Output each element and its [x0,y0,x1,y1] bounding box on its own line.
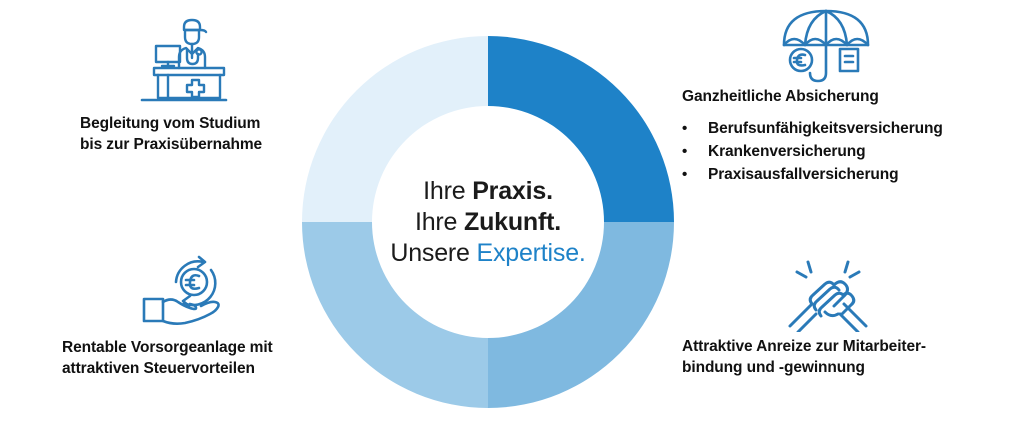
list-item: • Berufsunfähigkeitsversicherung [682,117,1012,140]
center-line1-light: Ihre [423,177,472,205]
callout-title-ganzheitliche-absicherung: Ganzheitliche Absicherung [682,86,1012,107]
center-line3-accent: Expertise. [476,239,585,267]
center-text-line-2: Ihre Zukunft. [415,207,561,238]
partnership-handshake-icon [780,246,876,332]
bullet-list-ganzheitliche-absicherung: • Berufsunfähigkeitsversicherung • Krank… [682,117,1012,186]
bullet-label: Krankenversicherung [708,140,865,163]
umbrella-euro-document-icon [776,4,876,90]
bullet-point-icon: • [682,163,708,186]
donut-chart: Ihre Praxis. Ihre Zukunft. Unsere Expert… [302,36,674,408]
bullet-point-icon: • [682,117,708,140]
donut-center-text: Ihre Praxis. Ihre Zukunft. Unsere Expert… [302,36,674,408]
infographic-canvas: Ihre Praxis. Ihre Zukunft. Unsere Expert… [0,0,1024,421]
callout-title-attraktive-anreize: Attraktive Anreize zur Mitarbeiter- bind… [682,336,1012,378]
bullet-label: Praxisausfallversicherung [708,163,899,186]
callout-title-begleitung-studium: Begleitung vom Studium bis zur Praxisübe… [80,113,320,155]
callout-begleitung-studium: Begleitung vom Studium bis zur Praxisübe… [80,113,320,155]
center-text-line-3: Unsere Expertise. [390,238,585,269]
hand-holding-euro-coin-icon [132,244,242,334]
list-item: • Krankenversicherung [682,140,1012,163]
list-item: • Praxisausfallversicherung [682,163,1012,186]
center-line1-bold: Praxis. [472,177,553,205]
callout-attraktive-anreize: Attraktive Anreize zur Mitarbeiter- bind… [682,336,1012,378]
doctor-reception-desk-icon [132,8,236,106]
bullet-point-icon: • [682,140,708,163]
center-text-line-1: Ihre Praxis. [423,176,553,207]
callout-ganzheitliche-absicherung: Ganzheitliche Absicherung • Berufsunfähi… [682,86,1012,186]
callout-rentable-vorsorgeanlage: Rentable Vorsorgeanlage mit attraktiven … [62,337,322,379]
center-line3-light: Unsere [390,239,476,267]
callout-title-rentable-vorsorgeanlage: Rentable Vorsorgeanlage mit attraktiven … [62,337,322,379]
center-line2-bold: Zukunft. [464,208,561,236]
center-line2-light: Ihre [415,208,464,236]
bullet-label: Berufsunfähigkeitsversicherung [708,117,943,140]
